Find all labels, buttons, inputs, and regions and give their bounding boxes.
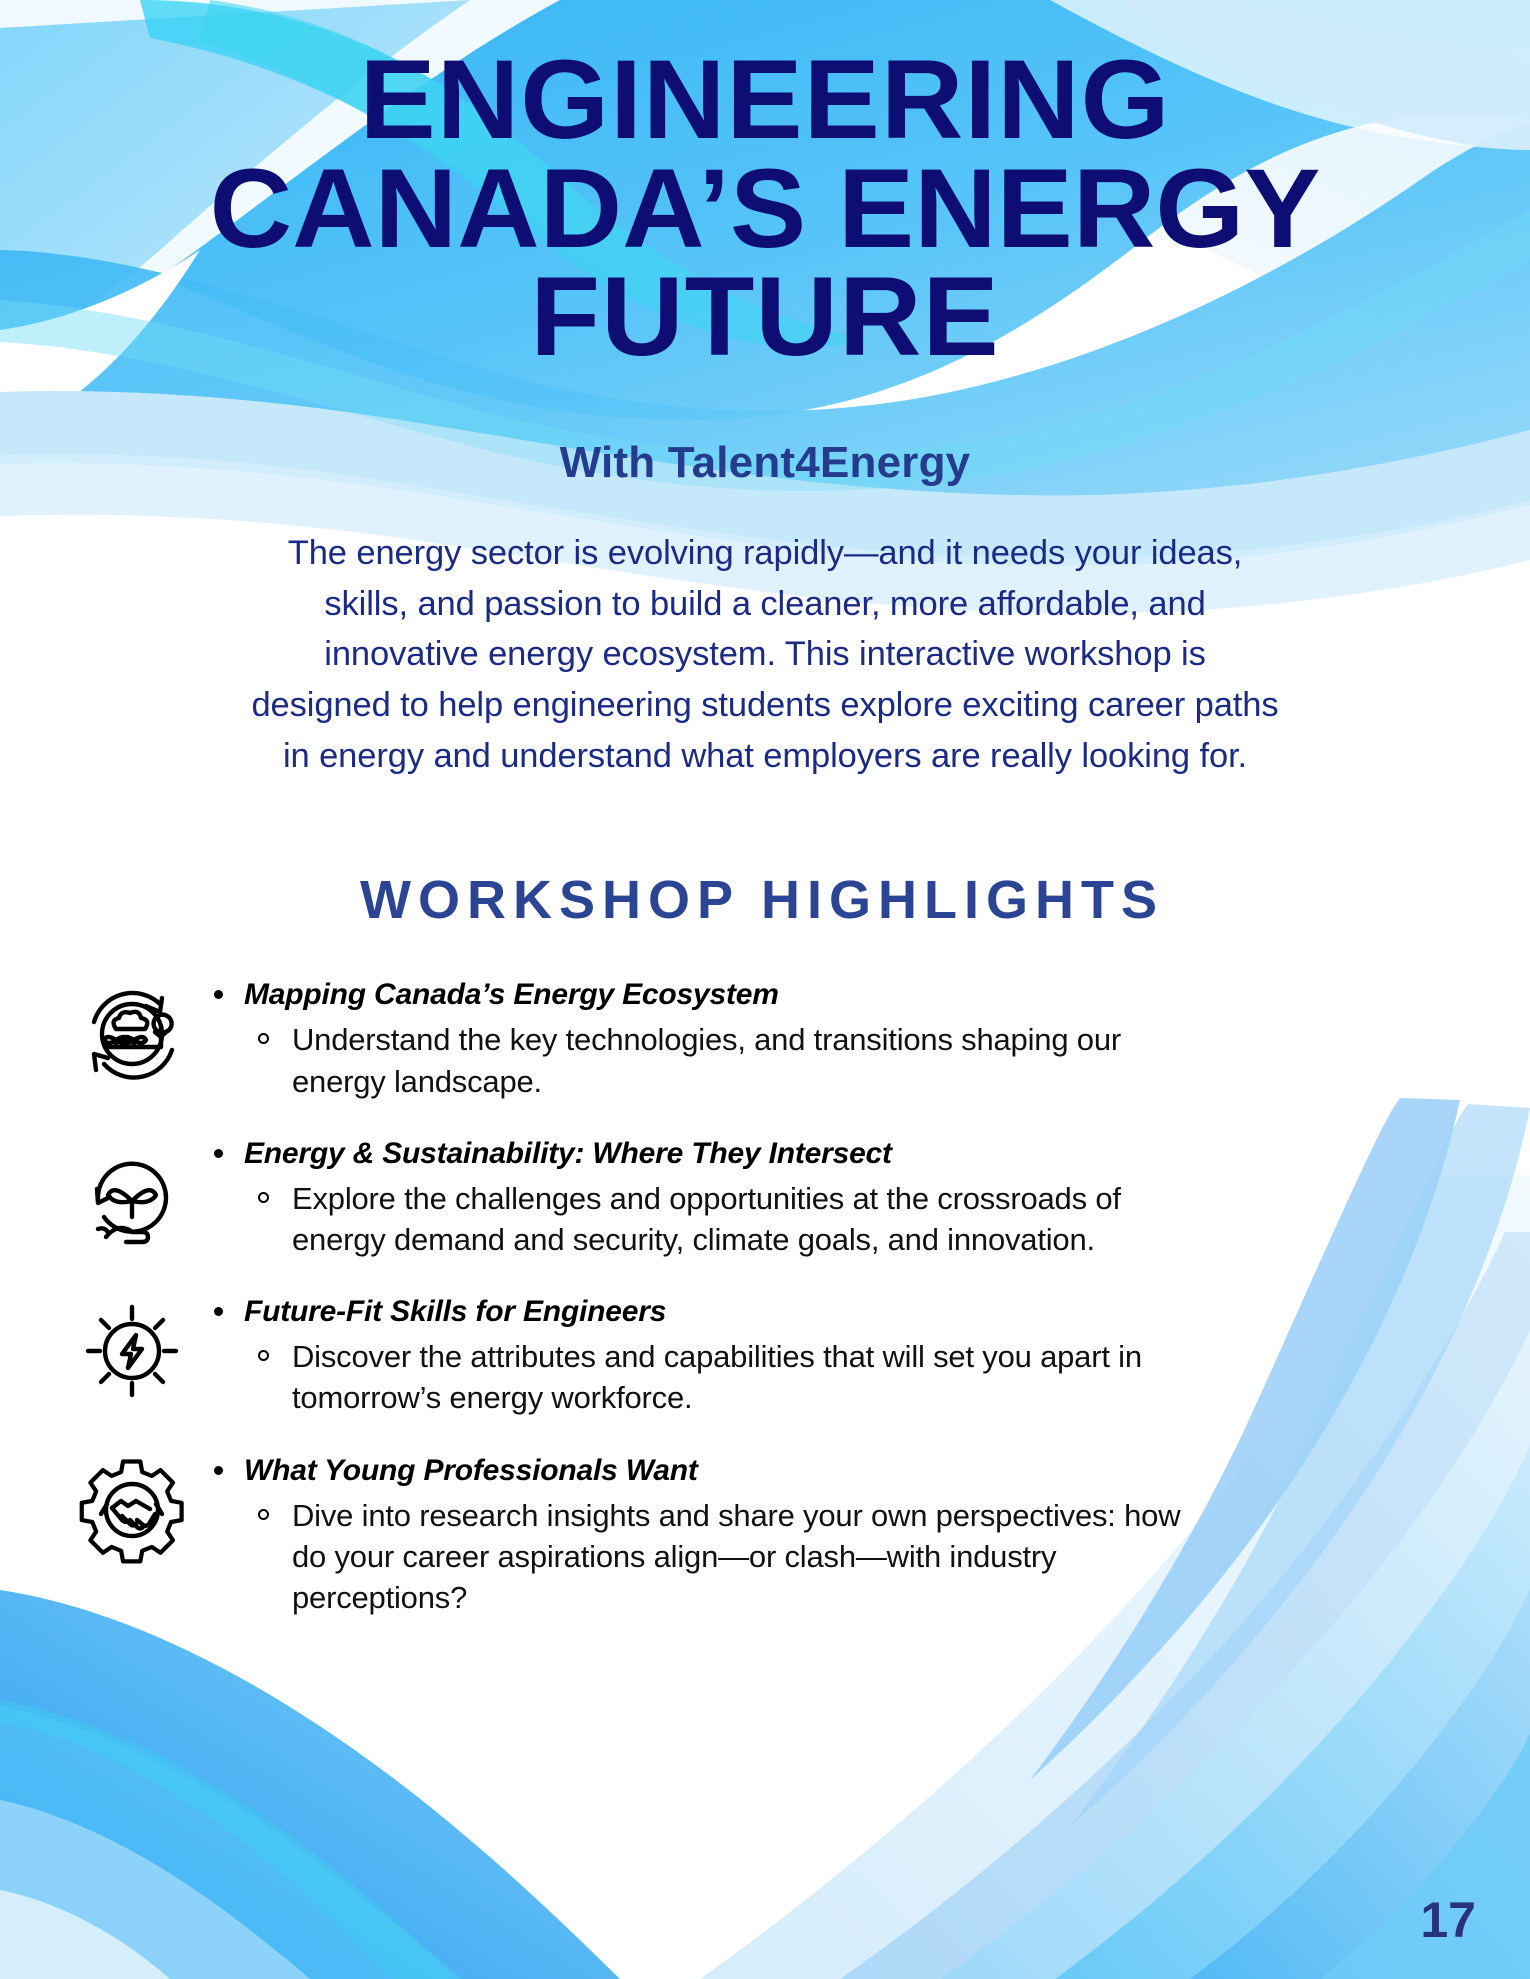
highlight-heading: What Young Professionals Want	[192, 1453, 1470, 1489]
recycle-landscape-icon	[72, 975, 192, 1093]
highlight-detail: Explore the challenges and opportunities…	[192, 1178, 1202, 1260]
hand-sprout-icon	[72, 1134, 192, 1252]
title-line-2: CANADA’S ENERGY	[138, 155, 1393, 264]
highlight-heading: Mapping Canada’s Energy Ecosystem	[192, 977, 1470, 1013]
poster-page: ENGINEERING CANADA’S ENERGY FUTURE With …	[0, 0, 1530, 1979]
list-item-body: Mapping Canada’s Energy Ecosystem Unders…	[192, 973, 1470, 1101]
highlight-detail: Discover the attributes and capabilities…	[192, 1336, 1202, 1418]
handshake-gear-icon	[72, 1451, 192, 1569]
highlight-detail: Understand the key technologies, and tra…	[192, 1019, 1202, 1101]
title-line-1: ENGINEERING	[138, 46, 1393, 155]
highlight-heading: Energy & Sustainability: Where They Inte…	[192, 1136, 1470, 1172]
subtitle: With Talent4Energy	[0, 438, 1530, 488]
list-item-body: Future-Fit Skills for Engineers Discover…	[192, 1290, 1470, 1418]
highlight-detail: Dive into research insights and share yo…	[192, 1495, 1202, 1619]
section-title-workshop-highlights: WORKSHOP HIGHLIGHTS	[0, 869, 1530, 931]
list-item: Future-Fit Skills for Engineers Discover…	[72, 1290, 1470, 1418]
hero-section: ENGINEERING CANADA’S ENERGY FUTURE With …	[0, 0, 1530, 781]
page-title: ENGINEERING CANADA’S ENERGY FUTURE	[0, 46, 1530, 372]
page-number: 17	[1420, 1891, 1476, 1949]
title-line-3: FUTURE	[138, 263, 1393, 372]
intro-paragraph: The energy sector is evolving rapidly—an…	[250, 528, 1280, 782]
list-item: Mapping Canada’s Energy Ecosystem Unders…	[72, 973, 1470, 1101]
lightning-sun-icon	[72, 1292, 192, 1410]
list-item-body: What Young Professionals Want Dive into …	[192, 1449, 1470, 1619]
list-item-body: Energy & Sustainability: Where They Inte…	[192, 1132, 1470, 1260]
highlight-heading: Future-Fit Skills for Engineers	[192, 1294, 1470, 1330]
list-item: Energy & Sustainability: Where They Inte…	[72, 1132, 1470, 1260]
highlights-list: Mapping Canada’s Energy Ecosystem Unders…	[0, 973, 1530, 1618]
list-item: What Young Professionals Want Dive into …	[72, 1449, 1470, 1619]
